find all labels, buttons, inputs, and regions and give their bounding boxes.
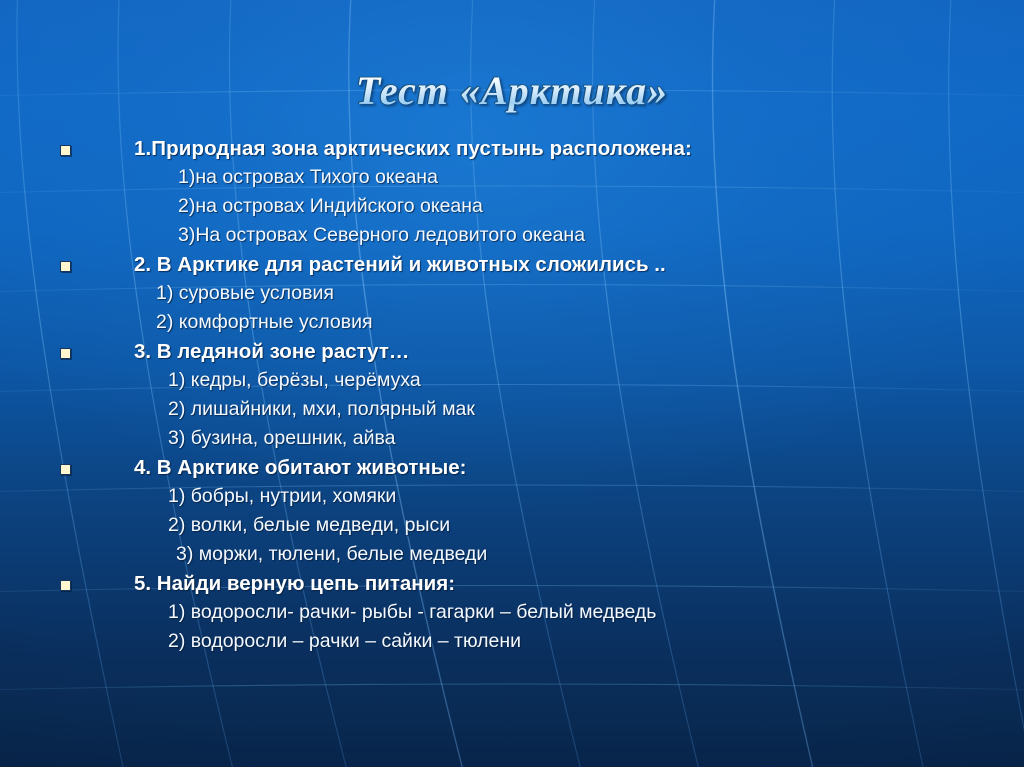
question-text-5: 5. Найди верную цепь питания: — [58, 569, 1024, 598]
answer-option[interactable]: 2) комфортные условия — [58, 308, 1024, 337]
question-item-2: 2. В Арктике для растений и животных сло… — [0, 250, 1024, 337]
square-bullet-icon — [60, 580, 71, 591]
question-text-3: 3. В ледяной зоне растут… — [58, 337, 1024, 366]
answer-option[interactable]: 1)на островах Тихого океана — [58, 163, 1024, 192]
question-text-2: 2. В Арктике для растений и животных сло… — [58, 250, 1024, 279]
answer-option[interactable]: 1) кедры, берёзы, черёмуха — [58, 366, 1024, 395]
answer-option[interactable]: 1) суровые условия — [58, 279, 1024, 308]
answer-option[interactable]: 2) водоросли – рачки – сайки – тюлени — [58, 627, 1024, 656]
answer-option[interactable]: 3)На островах Северного ледовитого океан… — [58, 221, 1024, 250]
answer-list-1: 1)на островах Тихого океана 2)на острова… — [58, 163, 1024, 250]
answer-option[interactable]: 2) волки, белые медведи, рыси — [58, 511, 1024, 540]
question-text-4: 4. В Арктике обитают животные: — [58, 453, 1024, 482]
question-item-5: 5. Найди верную цепь питания: 1) водорос… — [0, 569, 1024, 656]
answer-list-5: 1) водоросли- рачки- рыбы - гагарки – бе… — [58, 598, 1024, 656]
question-text-1: 1.Природная зона арктических пустынь рас… — [58, 134, 1024, 163]
answer-option[interactable]: 2)на островах Индийского океана — [58, 192, 1024, 221]
answer-option[interactable]: 1) водоросли- рачки- рыбы - гагарки – бе… — [58, 598, 1024, 627]
slide-title: Тест «Арктика» — [356, 67, 668, 115]
question-item-3: 3. В ледяной зоне растут… 1) кедры, берё… — [0, 337, 1024, 453]
square-bullet-icon — [60, 145, 71, 156]
answer-list-3: 1) кедры, берёзы, черёмуха 2) лишайники,… — [58, 366, 1024, 453]
answer-list-4: 1) бобры, нутрии, хомяки 2) волки, белые… — [58, 482, 1024, 569]
question-list: 1.Природная зона арктических пустынь рас… — [0, 134, 1024, 656]
answer-list-2: 1) суровые условия 2) комфортные условия — [58, 279, 1024, 337]
question-item-1: 1.Природная зона арктических пустынь рас… — [0, 134, 1024, 250]
question-item-4: 4. В Арктике обитают животные: 1) бобры,… — [0, 453, 1024, 569]
square-bullet-icon — [60, 261, 71, 272]
presentation-slide: Тест «Арктика» 1.Природная зона арктичес… — [0, 0, 1024, 767]
square-bullet-icon — [60, 348, 71, 359]
answer-option[interactable]: 3) бузина, орешник, айва — [58, 424, 1024, 453]
answer-option[interactable]: 1) бобры, нутрии, хомяки — [58, 482, 1024, 511]
answer-option[interactable]: 3) моржи, тюлени, белые медведи — [58, 540, 1024, 569]
square-bullet-icon — [60, 464, 71, 475]
title-area: Тест «Арктика» — [0, 40, 1024, 142]
answer-option[interactable]: 2) лишайники, мхи, полярный мак — [58, 395, 1024, 424]
